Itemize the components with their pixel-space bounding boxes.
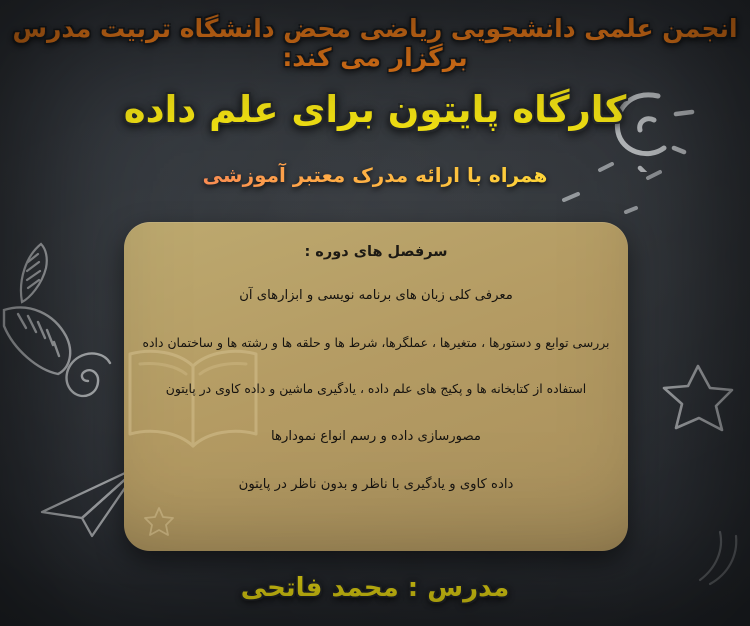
syllabus-card: سرفصل های دوره : معرفی کلی زبان های برنا… (124, 222, 628, 551)
leaf-doodle (0, 300, 90, 382)
star-doodle (658, 358, 736, 442)
syllabus-item: مصورسازی داده و رسم انواع نمودارها (255, 427, 497, 447)
feather-doodle (8, 240, 78, 320)
syllabus-item: معرفی کلی زبان های برنامه نویسی و ابزاره… (223, 286, 529, 306)
syllabus-item: داده کاوی و یادگیری با ناظر و بدون ناظر … (223, 475, 530, 495)
spiral-doodle (58, 345, 114, 405)
instructor-name: مدرس : محمد فاتحی (0, 573, 750, 603)
syllabus-content: سرفصل های دوره : معرفی کلی زبان های برنا… (124, 222, 628, 551)
certificate-subtitle: همراه با ارائه مدرک معتبر آموزشی (0, 163, 750, 187)
poster-canvas: انجمن علمی دانشجویی ریاضی محض دانشگاه تر… (0, 0, 750, 626)
page-title: کارگاه پایتون برای علم داده (0, 88, 750, 131)
syllabus-item: استفاده از کتابخانه ها و پکیج های علم دا… (150, 380, 602, 399)
syllabus-heading: سرفصل های دوره : (304, 244, 447, 260)
organizer-headline: انجمن علمی دانشجویی ریاضی محض دانشگاه تر… (0, 14, 750, 72)
syllabus-item: بررسی توابع و دستورها ، متغیرها ، عملگره… (127, 334, 626, 353)
